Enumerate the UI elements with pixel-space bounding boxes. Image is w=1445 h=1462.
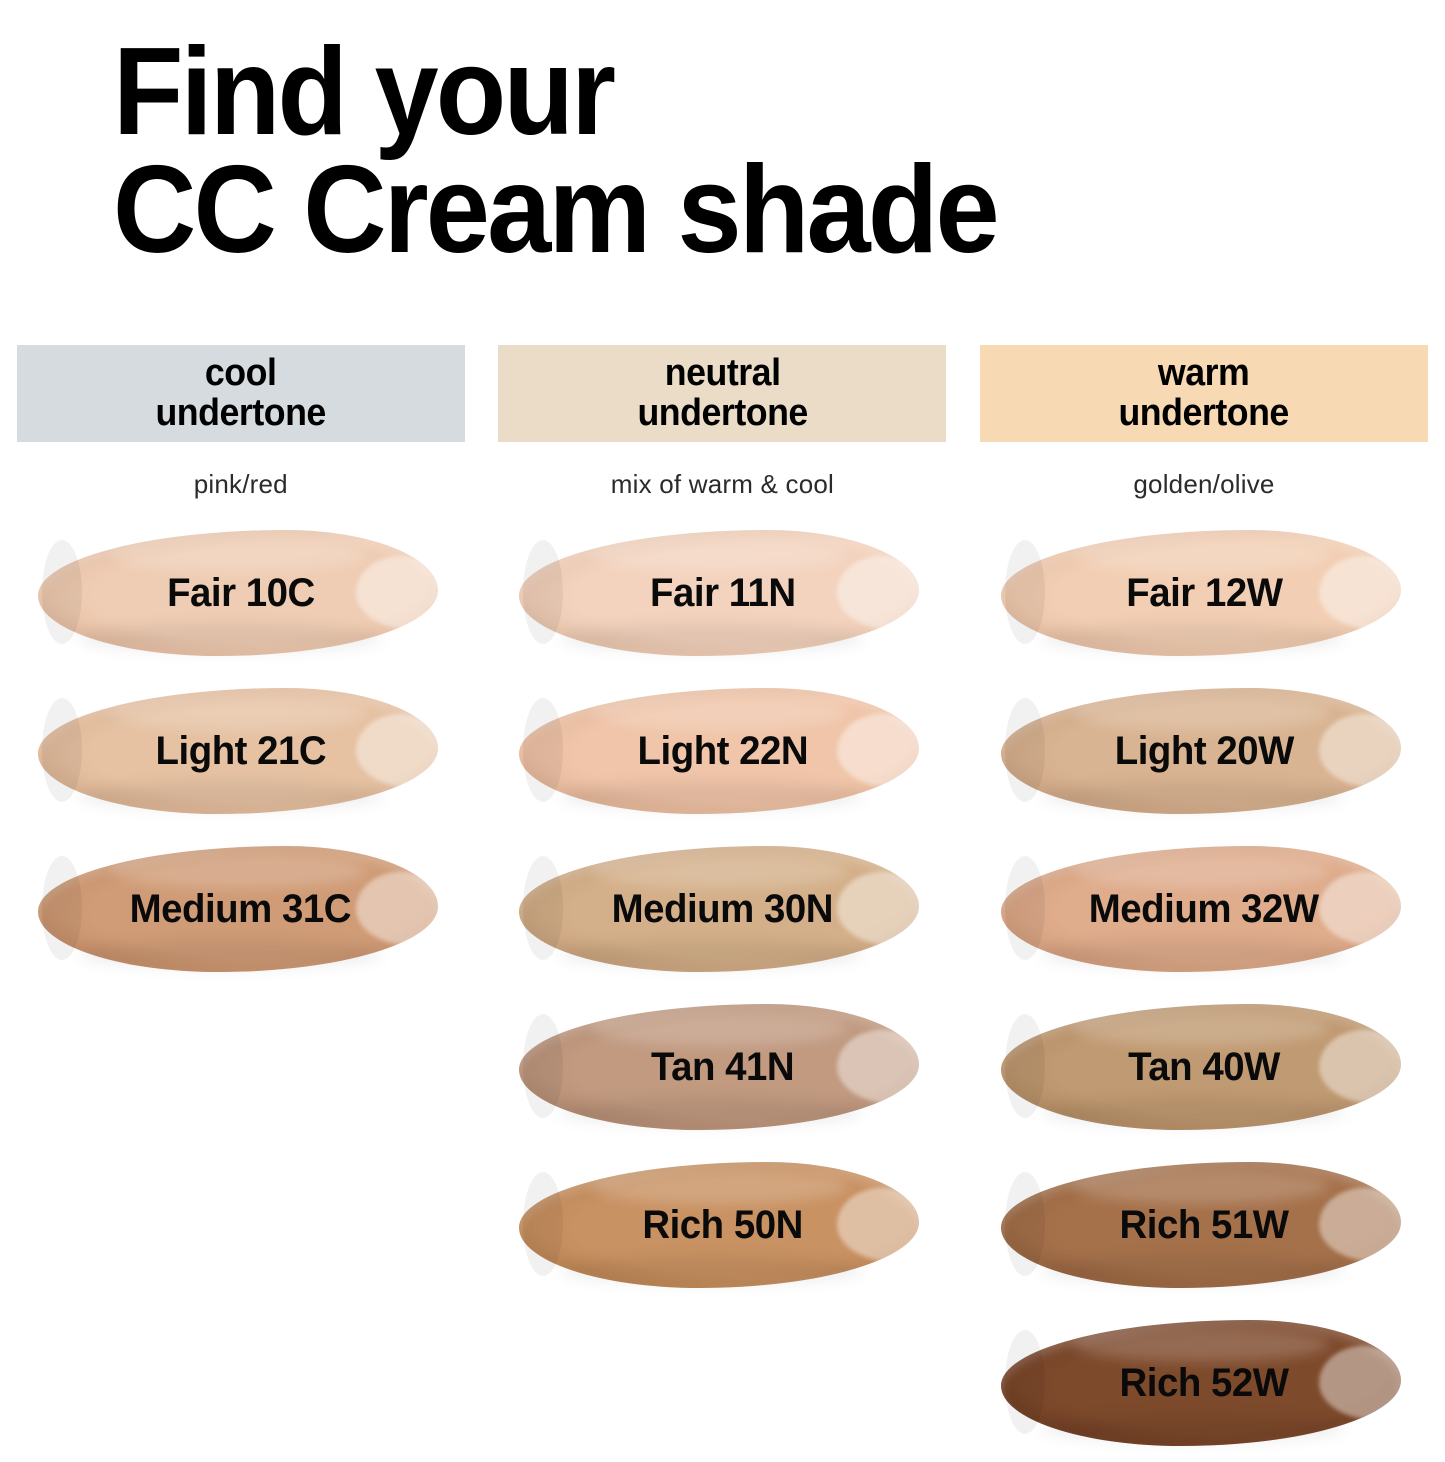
shade-swatch-sheen [1073,1168,1329,1204]
shade-swatch-shadow [1041,1414,1345,1442]
shade-swatch-sheen [110,852,366,888]
shade-label: Light 21C [155,729,326,774]
shade-swatch-shadow [559,940,863,968]
shade-swatch[interactable]: Medium 32W [989,830,1419,988]
swatch-stack-cool: Fair 10CLight 21CMedium 31C [0,514,482,988]
shade-label: Light 22N [637,729,808,774]
shade-swatch[interactable]: Rich 51W [989,1146,1419,1304]
shade-swatch-shadow [559,624,863,652]
shade-swatch[interactable]: Rich 50N [507,1146,937,1304]
shade-swatch[interactable]: Tan 41N [507,988,937,1146]
shade-swatch-sheen [110,694,366,730]
shade-swatch-shadow [1041,940,1345,968]
shade-swatch[interactable]: Fair 10C [26,514,456,672]
shade-swatch-shadow [559,1098,863,1126]
shade-swatch-sheen [1073,536,1329,572]
undertone-header-line-1: cool [156,354,326,394]
shade-label: Fair 12W [1126,571,1282,616]
shade-swatch[interactable]: Fair 11N [507,514,937,672]
page-title-line-1: Find your [113,34,1276,152]
shade-label: Medium 32W [1089,887,1319,932]
swatch-stack-warm: Fair 12WLight 20WMedium 32WTan 40WRich 5… [963,514,1445,1462]
shade-label: Fair 10C [167,571,315,616]
undertone-subtitle-cool: pink/red [194,469,288,500]
shade-label: Medium 30N [612,887,833,932]
undertone-column-cool: coolundertonepink/redFair 10CLight 21CMe… [0,345,482,988]
shade-swatch-shadow [1041,782,1345,810]
undertone-header-neutral: neutralundertone [498,345,946,442]
shade-swatch-sheen [1073,1010,1329,1046]
shade-swatch[interactable]: Light 22N [507,672,937,830]
undertone-header-line-1: warm [1119,354,1289,394]
undertone-subtitle-neutral: mix of warm & cool [611,469,834,500]
undertone-header-text: warmundertone [1119,354,1289,433]
shade-swatch-shadow [1041,1256,1345,1284]
shade-swatch-sheen [591,1010,847,1046]
shade-swatch-sheen [1073,852,1329,888]
shade-label: Tan 40W [1128,1045,1280,1090]
shade-swatch[interactable]: Tan 40W [989,988,1419,1146]
shade-swatch[interactable]: Medium 30N [507,830,937,988]
shade-swatch-sheen [591,536,847,572]
shade-swatch-shadow [1041,624,1345,652]
shade-swatch[interactable]: Medium 31C [26,830,456,988]
shade-swatch[interactable]: Light 21C [26,672,456,830]
shade-label: Tan 41N [651,1045,794,1090]
shade-swatch[interactable]: Rich 52W [989,1304,1419,1462]
undertone-subtitle-warm: golden/olive [1133,469,1274,500]
shade-swatch[interactable]: Fair 12W [989,514,1419,672]
shade-label: Medium 31C [130,887,351,932]
shade-swatch-shadow [559,1256,863,1284]
shade-swatch-shadow [1041,1098,1345,1126]
undertone-column-neutral: neutralundertonemix of warm & coolFair 1… [482,345,964,1304]
page-title-line-2: CC Cream shade [113,152,1276,270]
page-title: Find your CC Cream shade [113,34,1276,270]
undertone-column-warm: warmundertonegolden/oliveFair 12WLight 2… [963,345,1445,1462]
shade-label: Rich 52W [1119,1361,1288,1406]
shade-swatch-sheen [1073,1326,1329,1362]
undertone-header-text: neutralundertone [637,354,807,433]
undertone-header-line-1: neutral [637,354,807,394]
undertone-columns: coolundertonepink/redFair 10CLight 21CMe… [0,345,1445,1462]
shade-label: Rich 50N [642,1203,802,1248]
shade-swatch-sheen [591,852,847,888]
shade-label: Rich 51W [1119,1203,1288,1248]
shade-swatch-shadow [78,624,382,652]
undertone-header-line-2: undertone [1119,394,1289,434]
undertone-header-line-2: undertone [637,394,807,434]
shade-swatch-sheen [1073,694,1329,730]
undertone-header-cool: coolundertone [17,345,465,442]
shade-label: Fair 11N [650,571,796,616]
shade-swatch-shadow [78,940,382,968]
shade-swatch-sheen [591,1168,847,1204]
undertone-header-line-2: undertone [156,394,326,434]
shade-swatch-sheen [110,536,366,572]
shade-label: Light 20W [1114,729,1293,774]
shade-swatch-shadow [78,782,382,810]
undertone-header-text: coolundertone [156,354,326,433]
shade-swatch[interactable]: Light 20W [989,672,1419,830]
shade-swatch-shadow [559,782,863,810]
undertone-header-warm: warmundertone [980,345,1428,442]
shade-swatch-sheen [591,694,847,730]
swatch-stack-neutral: Fair 11NLight 22NMedium 30NTan 41NRich 5… [482,514,964,1304]
